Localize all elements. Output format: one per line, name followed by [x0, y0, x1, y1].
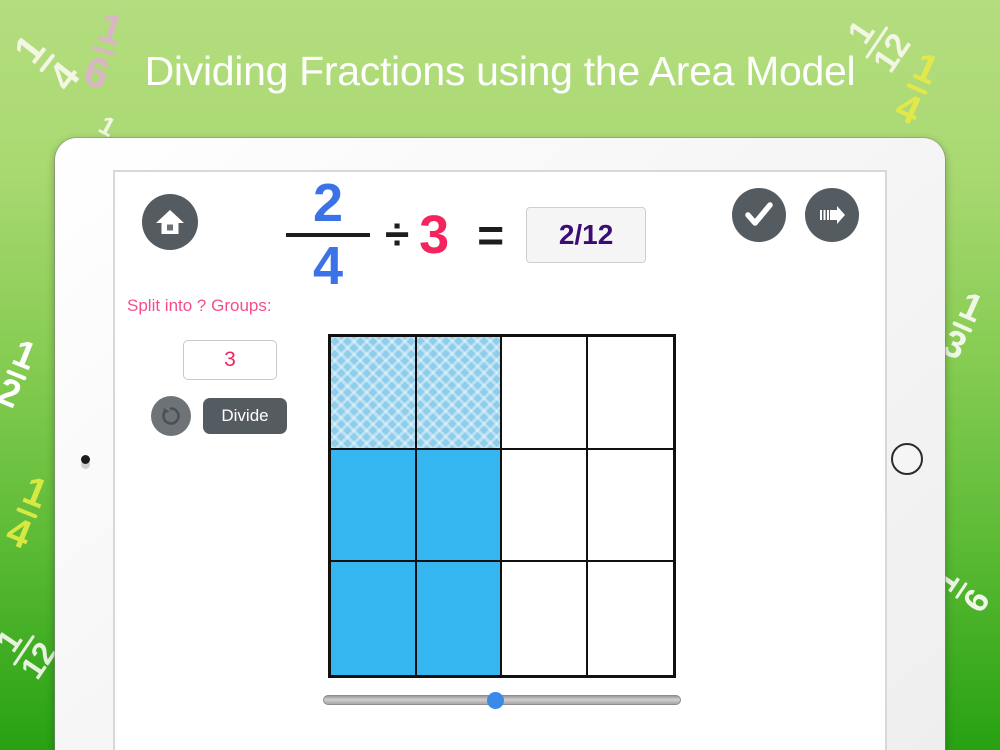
- deco-bar: [16, 507, 38, 519]
- deco-denominator: 2: [0, 373, 25, 414]
- divide-button[interactable]: Divide: [203, 398, 287, 434]
- deco-bar: [6, 369, 27, 380]
- deco-denominator: 4: [2, 511, 37, 555]
- area-model-cell[interactable]: [331, 337, 417, 450]
- reset-button[interactable]: [151, 396, 191, 436]
- area-model-cell[interactable]: [588, 450, 674, 563]
- equation-display: 2 4 ÷ 3 = 2/12: [285, 180, 646, 290]
- page-title: Dividing Fractions using the Area Model: [0, 48, 1000, 95]
- division-symbol: ÷: [385, 213, 409, 257]
- split-groups-label: Split into ? Groups:: [127, 296, 272, 316]
- dividend-fraction: 2 4: [285, 176, 371, 294]
- groups-input[interactable]: 3: [183, 340, 277, 380]
- app-root: 1 4 1 6 1 1 12 1 4 1 2: [0, 0, 1000, 750]
- deco-fraction-1-12-bottomleft: 1 12: [0, 618, 61, 684]
- tablet-camera-icon: [81, 455, 90, 464]
- area-model-cell[interactable]: [588, 562, 674, 675]
- check-button[interactable]: [732, 188, 786, 242]
- tablet-screen: 2 4 ÷ 3 = 2/12: [113, 170, 887, 750]
- deco-fraction-1-4-left: 1 4: [2, 471, 53, 555]
- area-model-cell[interactable]: [588, 337, 674, 450]
- area-model-cell[interactable]: [417, 337, 503, 450]
- next-button[interactable]: [805, 188, 859, 242]
- area-model-cell[interactable]: [331, 450, 417, 563]
- deco-bar: [952, 321, 973, 333]
- deco-numerator: 1: [93, 6, 128, 51]
- area-model-cell[interactable]: [417, 562, 503, 675]
- answer-input[interactable]: 2/12: [526, 207, 646, 263]
- dividend-denominator: 4: [313, 239, 343, 294]
- area-model-cell[interactable]: [502, 450, 588, 563]
- area-model-cell[interactable]: [502, 337, 588, 450]
- deco-numerator: 1: [954, 287, 988, 329]
- grid-size-slider[interactable]: [323, 690, 681, 710]
- tablet-home-button[interactable]: [891, 443, 923, 475]
- deco-bar: [955, 582, 968, 600]
- deco-numerator: 1: [8, 335, 41, 376]
- area-model-grid[interactable]: [328, 334, 676, 678]
- deco-fraction-1-2-left: 1 2: [0, 335, 41, 415]
- slider-thumb[interactable]: [487, 692, 504, 709]
- deco-numerator: 1: [18, 471, 53, 515]
- area-model-cell[interactable]: [331, 562, 417, 675]
- equals-symbol: =: [477, 212, 504, 258]
- area-model-cell[interactable]: [417, 450, 503, 563]
- deco-numerator: 1: [0, 618, 32, 665]
- home-button[interactable]: [142, 194, 198, 250]
- divisor-value: 3: [419, 208, 449, 262]
- deco-denominator: 6: [958, 584, 995, 618]
- deco-fraction-1-topleft: 1: [95, 112, 119, 141]
- area-model-cell[interactable]: [502, 562, 588, 675]
- tablet-device: 2 4 ÷ 3 = 2/12: [55, 138, 945, 750]
- dividend-numerator: 2: [313, 176, 343, 231]
- deco-bar: [13, 635, 36, 666]
